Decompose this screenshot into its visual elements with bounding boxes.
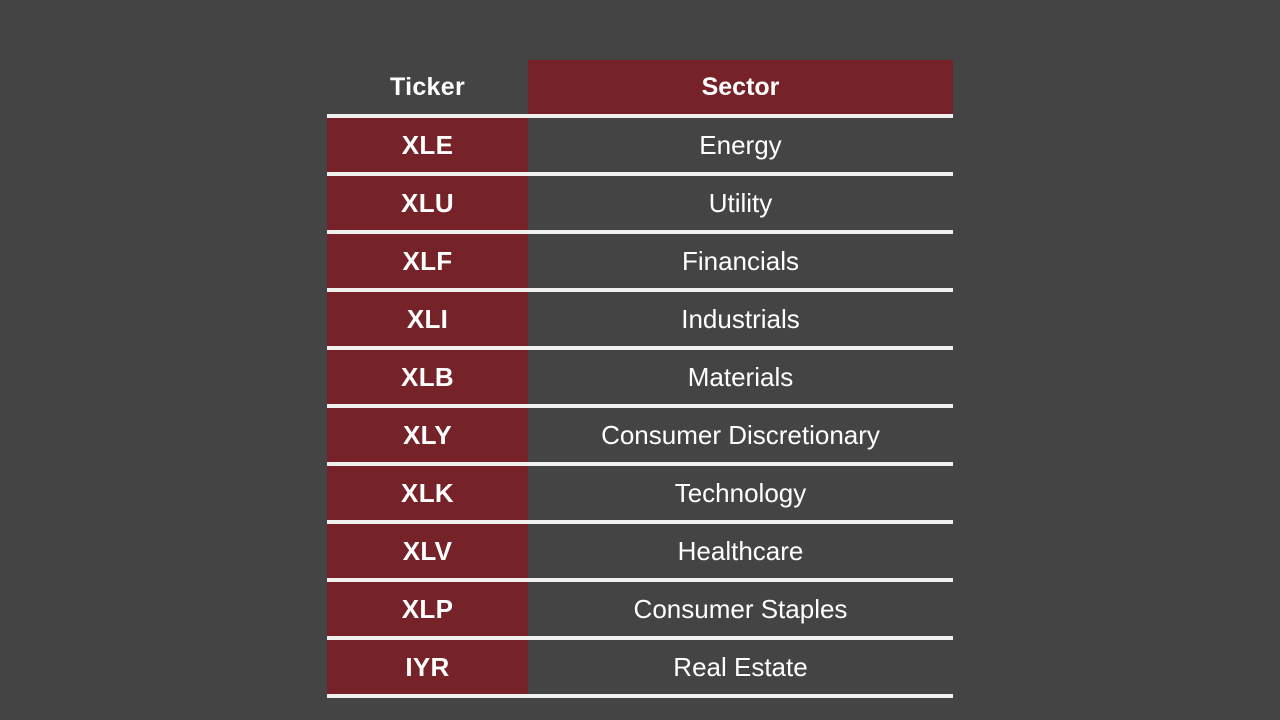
cell-sector: Consumer Discretionary (528, 408, 953, 462)
cell-sector: Technology (528, 466, 953, 520)
cell-ticker: XLV (327, 524, 528, 578)
cell-ticker: XLF (327, 234, 528, 288)
table-row[interactable]: IYRReal Estate (327, 640, 953, 694)
table-row[interactable]: XLEEnergy (327, 118, 953, 172)
cell-sector: Materials (528, 350, 953, 404)
table-row[interactable]: XLUUtility (327, 176, 953, 230)
table-row[interactable]: XLYConsumer Discretionary (327, 408, 953, 462)
table-header-row: Ticker Sector (327, 60, 953, 114)
sector-ticker-table: Ticker Sector XLEEnergyXLUUtilityXLFFina… (327, 60, 953, 698)
table-row[interactable]: XLPConsumer Staples (327, 582, 953, 636)
cell-ticker: XLY (327, 408, 528, 462)
cell-ticker: XLB (327, 350, 528, 404)
cell-sector: Consumer Staples (528, 582, 953, 636)
row-divider-rule (327, 694, 953, 698)
table-row[interactable]: XLIIndustrials (327, 292, 953, 346)
cell-sector: Healthcare (528, 524, 953, 578)
table-body: XLEEnergyXLUUtilityXLFFinancialsXLIIndus… (327, 118, 953, 698)
table-row[interactable]: XLFFinancials (327, 234, 953, 288)
column-header-sector: Sector (528, 60, 953, 114)
cell-ticker: XLI (327, 292, 528, 346)
cell-ticker: XLE (327, 118, 528, 172)
cell-ticker: XLK (327, 466, 528, 520)
cell-sector: Energy (528, 118, 953, 172)
cell-sector: Financials (528, 234, 953, 288)
table-row[interactable]: XLKTechnology (327, 466, 953, 520)
table-row[interactable]: XLBMaterials (327, 350, 953, 404)
column-header-ticker: Ticker (327, 60, 528, 114)
cell-ticker: XLU (327, 176, 528, 230)
cell-sector: Real Estate (528, 640, 953, 694)
cell-sector: Utility (528, 176, 953, 230)
cell-ticker: XLP (327, 582, 528, 636)
cell-sector: Industrials (528, 292, 953, 346)
table-row[interactable]: XLVHealthcare (327, 524, 953, 578)
cell-ticker: IYR (327, 640, 528, 694)
slide-canvas: Ticker Sector XLEEnergyXLUUtilityXLFFina… (0, 0, 1280, 720)
